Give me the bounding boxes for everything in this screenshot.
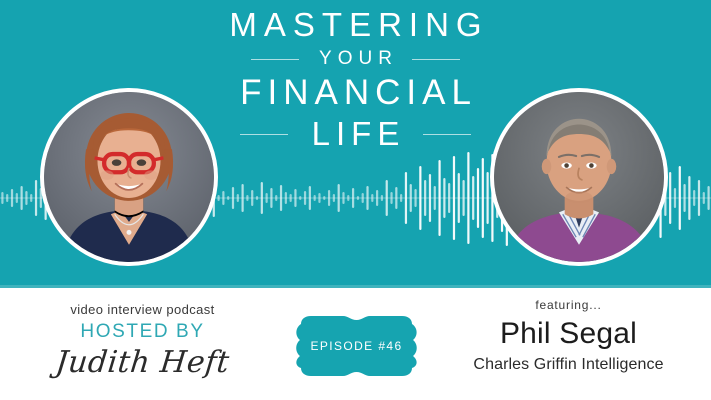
podcast-format-label: video interview podcast — [0, 302, 285, 317]
episode-number-label: EPISODE #46 — [291, 314, 422, 378]
host-avatar — [40, 88, 218, 266]
lower-info-band: video interview podcast HOSTED BY Judith… — [0, 288, 711, 400]
title-line-mastering: MASTERING — [0, 6, 711, 44]
featuring-label: featuring... — [426, 298, 711, 312]
guest-info: featuring... Phil Segal Charles Griffin … — [426, 298, 711, 374]
host-info: video interview podcast HOSTED BY Judith… — [0, 302, 285, 385]
title-line-your-row: YOUR — [0, 48, 711, 70]
guest-avatar — [490, 88, 668, 266]
title-line-life: LIFE — [306, 115, 406, 153]
guest-company: Charles Griffin Intelligence — [426, 356, 711, 374]
title-line-your: YOUR — [313, 48, 398, 70]
episode-badge: EPISODE #46 — [291, 314, 422, 378]
podcast-episode-card: MASTERING YOUR FINANCIAL LIFE — [0, 0, 711, 400]
title-rule-left-2-icon — [240, 134, 288, 135]
title-rule-right-icon — [412, 59, 460, 60]
guest-name: Phil Segal — [426, 315, 711, 353]
hosted-by-label: HOSTED BY — [0, 321, 285, 343]
title-rule-left-icon — [251, 59, 299, 60]
host-name-signature: Judith Heft — [0, 341, 287, 385]
title-rule-right-2-icon — [423, 134, 471, 135]
